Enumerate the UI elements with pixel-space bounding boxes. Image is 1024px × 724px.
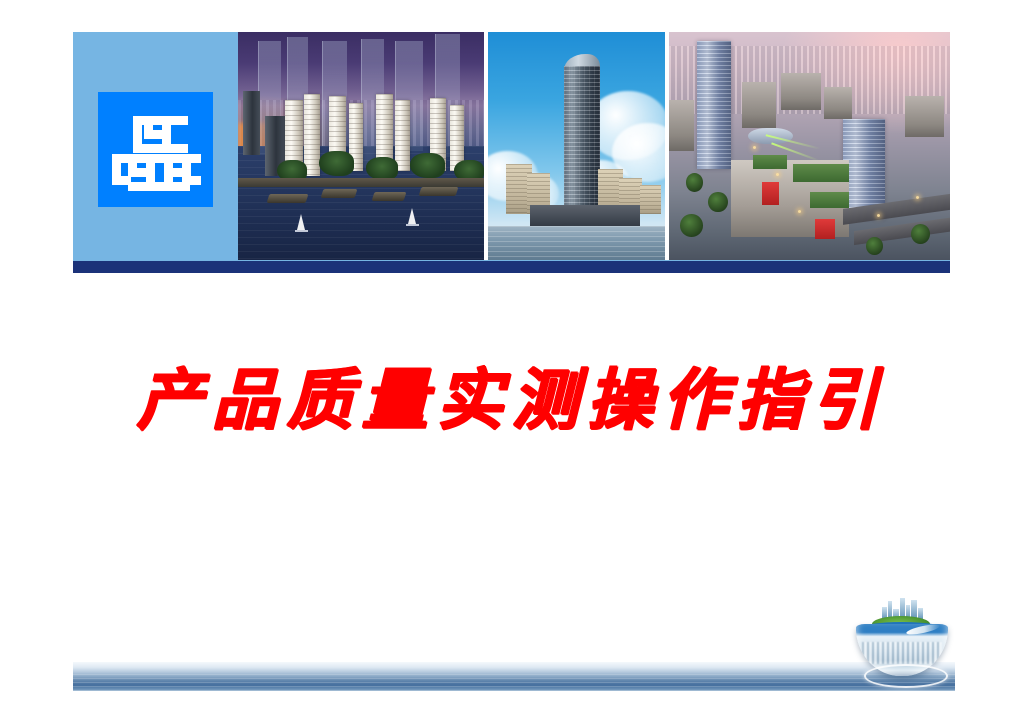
photo-glass-office-tower bbox=[488, 32, 665, 260]
logo-plate bbox=[73, 32, 238, 260]
photo-waterfront-residential-development bbox=[238, 32, 484, 260]
header-banner bbox=[73, 32, 950, 273]
photo-aerial-mixed-use-complex bbox=[669, 32, 950, 260]
slide-canvas: 产品质量实测操作指引 bbox=[0, 0, 1024, 724]
globe-city-ornament bbox=[848, 596, 958, 688]
cscec-logo bbox=[98, 92, 213, 207]
banner-photo-strip bbox=[238, 32, 950, 260]
banner-divider-rule bbox=[73, 261, 950, 273]
footer-water-band bbox=[73, 662, 955, 691]
globe-ring bbox=[864, 664, 948, 688]
slide-title: 产品质量实测操作指引 bbox=[0, 368, 1024, 434]
